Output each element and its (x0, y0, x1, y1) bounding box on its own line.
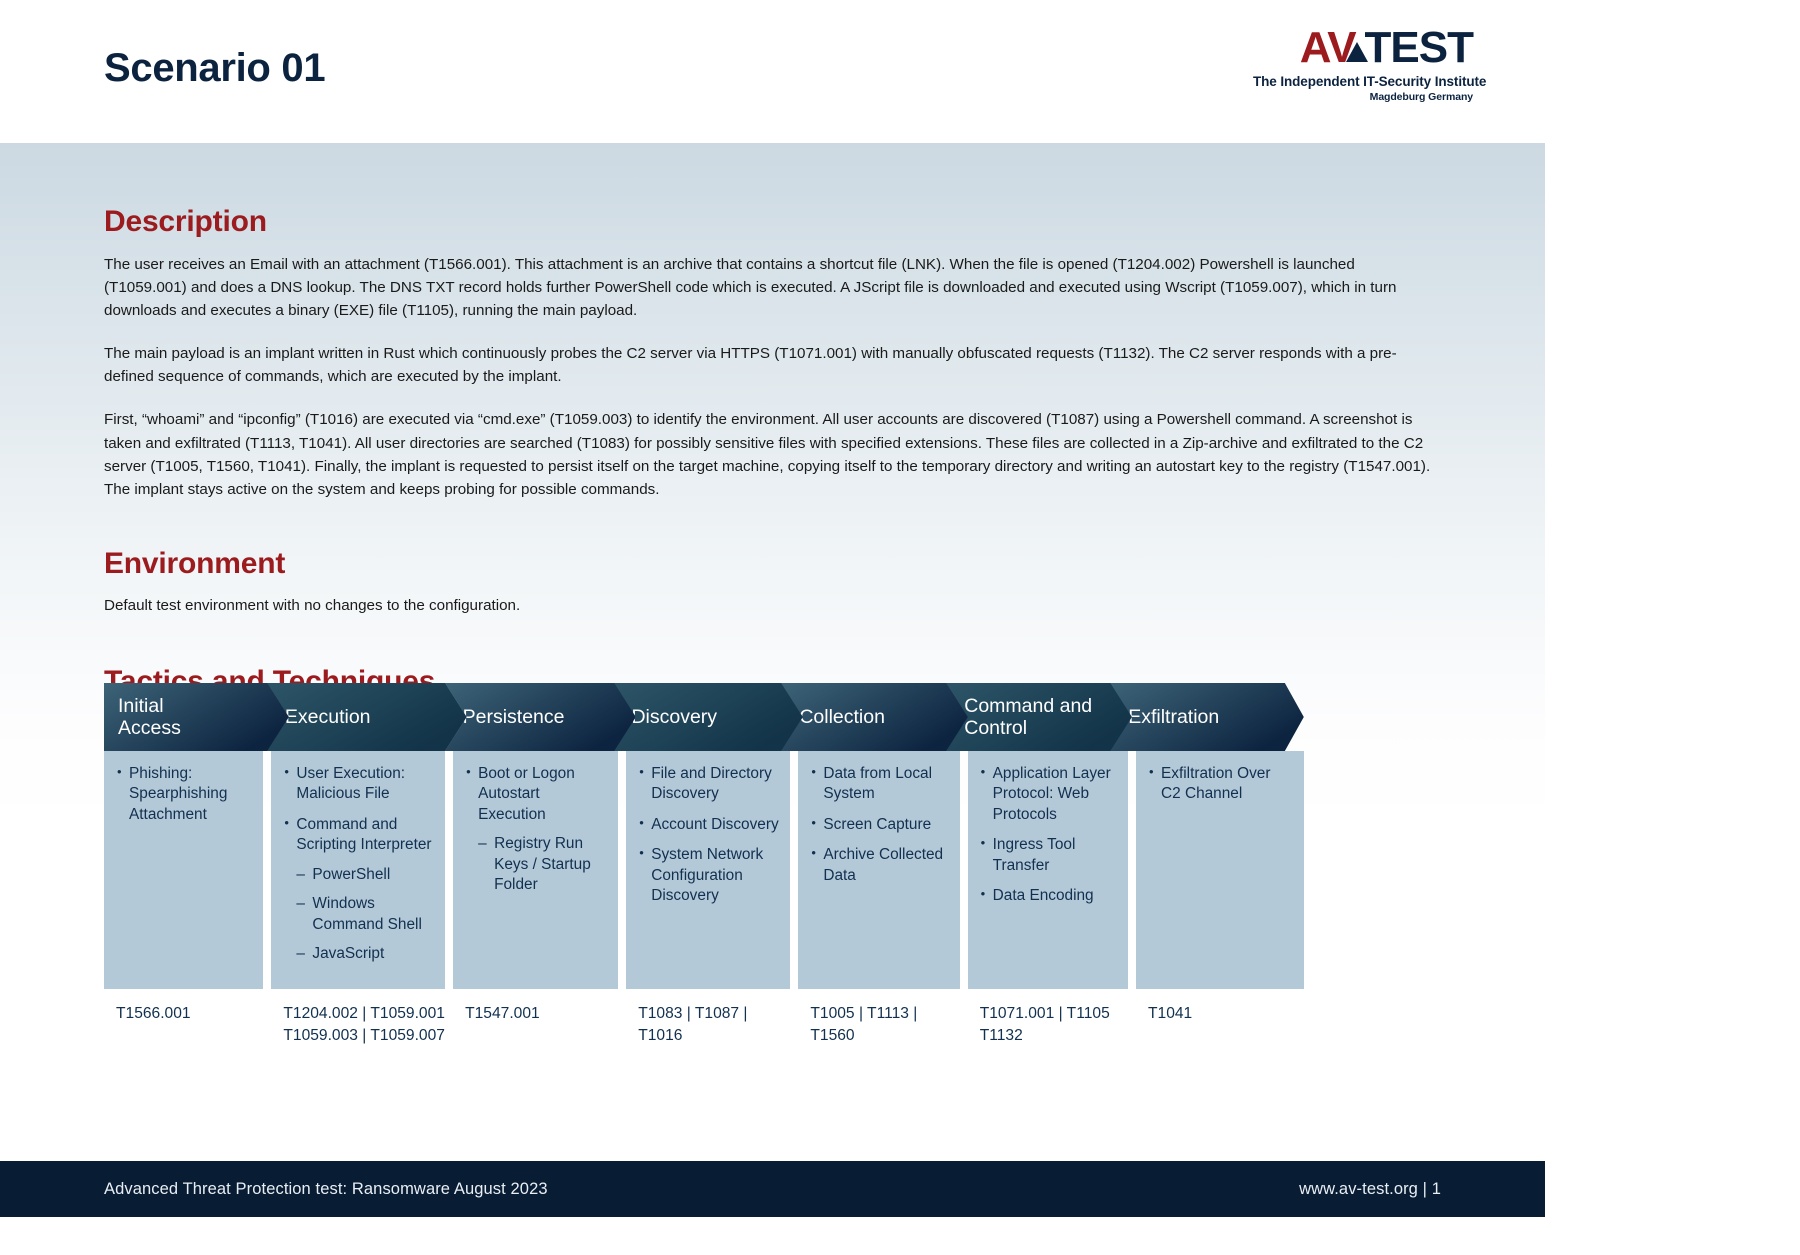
technique-list: Application Layer Protocol: Web Protocol… (980, 764, 1118, 907)
technique-list: User Execution: Malicious FileCommand an… (283, 764, 435, 965)
av-test-logo: AVTEST The Independent IT-Security Insti… (1253, 26, 1473, 103)
logo-location: Magdeburg Germany (1253, 91, 1473, 103)
tactics-techniques-table: InitialAccess Execution Persistence Disc… (104, 683, 1304, 1046)
technique-cell: Data from Local SystemScreen CaptureArch… (798, 751, 959, 989)
technique-id-cell: T1204.002 | T1059.001T1059.003 | T1059.0… (271, 1003, 445, 1046)
technique-item: User Execution: Malicious File (283, 764, 435, 805)
technique-id-cell: T1041 (1136, 1003, 1304, 1046)
technique-list: File and Directory DiscoveryAccount Disc… (638, 764, 780, 907)
technique-list: Exfiltration Over C2 Channel (1148, 764, 1294, 805)
techniques-row: Phishing: Spearphishing AttachmentUser E… (104, 751, 1304, 989)
technique-cell: Exfiltration Over C2 Channel (1136, 751, 1304, 989)
tactic-chevron-command-and-control: Command andControl (946, 683, 1132, 751)
technique-list: Boot or Logon Autostart ExecutionRegistr… (465, 764, 608, 896)
technique-item: Data from Local System (810, 764, 949, 805)
tactics-header-row: InitialAccess Execution Persistence Disc… (104, 683, 1304, 751)
technique-id-cell: T1005 | T1113 | T1560 (798, 1003, 959, 1046)
environment-heading: Environment (104, 547, 1441, 581)
technique-item: Application Layer Protocol: Web Protocol… (980, 764, 1118, 825)
logo-wordmark: AVTEST (1253, 26, 1473, 70)
sub-technique-item: Windows Command Shell (296, 894, 435, 935)
tactic-label: Exfiltration (1128, 706, 1219, 728)
logo-tagline: The Independent IT-Security Institute (1253, 74, 1473, 89)
technique-item: Command and Scripting InterpreterPowerSh… (283, 815, 435, 965)
technique-cell: Phishing: Spearphishing Attachment (104, 751, 263, 989)
environment-text: Default test environment with no changes… (104, 594, 1441, 617)
tactic-label: Discovery (631, 706, 717, 728)
tactic-chevron-initial-access: InitialAccess (104, 683, 289, 751)
footer-test-name: Advanced Threat Protection test: Ransomw… (104, 1180, 548, 1199)
technique-id-cell: T1083 | T1087 | T1016 (626, 1003, 790, 1046)
page-footer: Advanced Threat Protection test: Ransomw… (0, 1161, 1545, 1217)
description-paragraph-1: The user receives an Email with an attac… (104, 253, 1441, 322)
technique-id-cell: T1547.001 (453, 1003, 618, 1046)
page-header: Scenario 01 AVTEST The Independent IT-Se… (0, 0, 1545, 143)
description-paragraph-2: The main payload is an implant written i… (104, 342, 1441, 388)
technique-item: Boot or Logon Autostart ExecutionRegistr… (465, 764, 608, 896)
tactic-chevron-collection: Collection (781, 683, 968, 751)
footer-url-page[interactable]: www.av-test.org | 1 (1299, 1180, 1441, 1199)
technique-item: Data Encoding (980, 886, 1118, 906)
technique-cell: Boot or Logon Autostart ExecutionRegistr… (453, 751, 618, 989)
technique-cell: File and Directory DiscoveryAccount Disc… (626, 751, 790, 989)
sub-technique-list: PowerShellWindows Command ShellJavaScrip… (296, 865, 435, 965)
tactic-chevron-execution: Execution (267, 683, 467, 751)
technique-item: Ingress Tool Transfer (980, 835, 1118, 876)
tactic-chevron-persistence: Persistence (445, 683, 636, 751)
technique-item: Screen Capture (810, 815, 949, 835)
technique-item: System Network Configuration Discovery (638, 845, 780, 906)
logo-test-text: TEST (1365, 23, 1473, 72)
technique-list: Data from Local SystemScreen CaptureArch… (810, 764, 949, 886)
tactic-label: Command andControl (964, 695, 1092, 740)
sub-technique-item: PowerShell (296, 865, 435, 885)
technique-id-cell: T1071.001 | T1105T1132 (968, 1003, 1128, 1046)
technique-ids-row: T1566.001T1204.002 | T1059.001T1059.003 … (104, 1003, 1304, 1046)
tactic-label: Collection (799, 706, 885, 728)
sub-technique-list: Registry Run Keys / Startup Folder (478, 834, 608, 895)
description-paragraph-3: First, “whoami” and “ipconfig” (T1016) a… (104, 408, 1441, 500)
technique-item: Account Discovery (638, 815, 780, 835)
technique-item: Phishing: Spearphishing Attachment (116, 764, 253, 825)
sub-technique-item: Registry Run Keys / Startup Folder (478, 834, 608, 895)
page-title: Scenario 01 (104, 46, 325, 91)
tactic-label: InitialAccess (118, 695, 181, 740)
tactic-label: Execution (285, 706, 371, 728)
technique-item: Archive Collected Data (810, 845, 949, 886)
technique-id-cell: T1566.001 (104, 1003, 263, 1046)
document-page: Scenario 01 AVTEST The Independent IT-Se… (0, 0, 1545, 1255)
technique-cell: User Execution: Malicious FileCommand an… (271, 751, 445, 989)
sub-technique-item: JavaScript (296, 944, 435, 964)
description-heading: Description (104, 143, 1441, 239)
tactic-chevron-exfiltration: Exfiltration (1110, 683, 1304, 751)
tactic-chevron-discovery: Discovery (613, 683, 803, 751)
technique-item: File and Directory Discovery (638, 764, 780, 805)
tactic-label: Persistence (463, 706, 565, 728)
technique-item: Exfiltration Over C2 Channel (1148, 764, 1294, 805)
technique-cell: Application Layer Protocol: Web Protocol… (968, 751, 1128, 989)
technique-list: Phishing: Spearphishing Attachment (116, 764, 253, 825)
